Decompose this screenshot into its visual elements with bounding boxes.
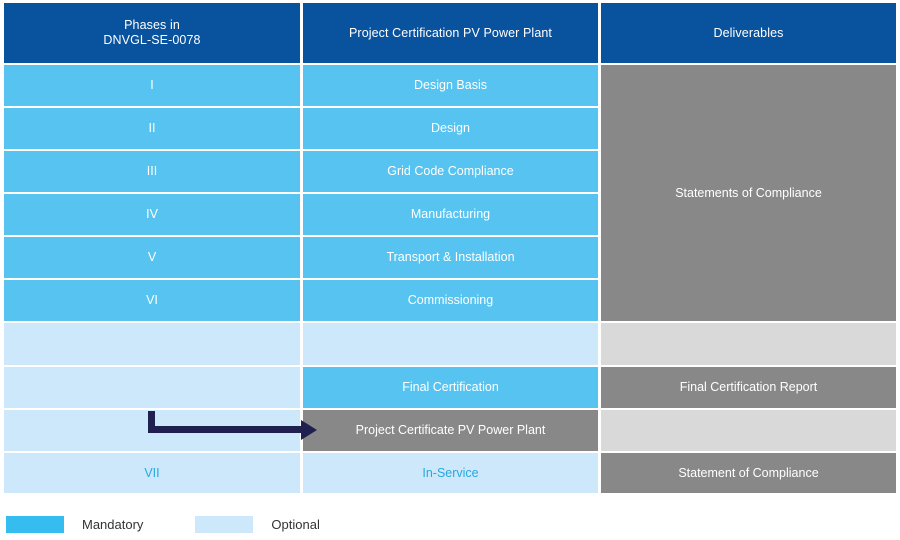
phase-cell-3[interactable]: III: [4, 151, 300, 192]
phase-cell-7[interactable]: VII: [4, 453, 300, 493]
phase-label-4: IV: [146, 207, 158, 222]
activity-label-project-certificate: Project Certificate PV Power Plant: [356, 423, 546, 438]
activity-cell-grid-code-compliance[interactable]: Grid Code Compliance: [303, 151, 598, 192]
header-project-certification-label: Project Certification PV Power Plant: [349, 26, 552, 41]
phase-cell-6[interactable]: VI: [4, 280, 300, 321]
deliverable-spacer-1: [601, 323, 896, 365]
phase-cell-5[interactable]: V: [4, 237, 300, 278]
phase-label-2: II: [149, 121, 156, 136]
header-deliverables-label: Deliverables: [714, 26, 784, 41]
diagram-canvas: Phases in DNVGL-SE-0078 Project Certific…: [0, 0, 900, 540]
activity-cell-design[interactable]: Design: [303, 108, 598, 149]
legend-label-mandatory: Mandatory: [82, 517, 143, 532]
activity-cell-project-certificate[interactable]: Project Certificate PV Power Plant: [303, 410, 598, 451]
activity-cell-transport-installation[interactable]: Transport & Installation: [303, 237, 598, 278]
header-project-certification: Project Certification PV Power Plant: [303, 3, 598, 63]
activity-label-manufacturing: Manufacturing: [411, 207, 490, 222]
activity-cell-blank[interactable]: [303, 323, 598, 365]
activity-cell-final-certification[interactable]: Final Certification: [303, 367, 598, 408]
activity-label-grid-code-compliance: Grid Code Compliance: [387, 164, 513, 179]
activity-label-commissioning: Commissioning: [408, 293, 493, 308]
deliverable-label-final-certification-report: Final Certification Report: [680, 380, 818, 395]
phase-label-5: V: [148, 250, 156, 265]
phase-cell-blank-3[interactable]: [4, 410, 300, 451]
activity-label-design-basis: Design Basis: [414, 78, 487, 93]
phase-label-3: III: [147, 164, 157, 179]
activity-cell-design-basis[interactable]: Design Basis: [303, 65, 598, 106]
header-deliverables: Deliverables: [601, 3, 896, 63]
activity-cell-in-service[interactable]: In-Service: [303, 453, 598, 493]
legend-swatch-optional: [195, 516, 253, 533]
legend: Mandatory Optional: [6, 514, 320, 534]
phase-label-1: I: [150, 78, 153, 93]
phase-cell-blank-1[interactable]: [4, 323, 300, 365]
deliverable-label-statements-of-compliance: Statements of Compliance: [675, 186, 822, 201]
phase-cell-2[interactable]: II: [4, 108, 300, 149]
activity-label-design: Design: [431, 121, 470, 136]
activity-cell-manufacturing[interactable]: Manufacturing: [303, 194, 598, 235]
certification-matrix: Phases in DNVGL-SE-0078 Project Certific…: [4, 3, 896, 493]
legend-swatch-mandatory: [6, 516, 64, 533]
activity-label-in-service: In-Service: [422, 466, 478, 481]
header-phases-label: Phases in DNVGL-SE-0078: [103, 18, 200, 48]
phase-cell-4[interactable]: IV: [4, 194, 300, 235]
activity-label-final-certification: Final Certification: [402, 380, 499, 395]
activity-label-transport-installation: Transport & Installation: [386, 250, 514, 265]
activity-cell-commissioning[interactable]: Commissioning: [303, 280, 598, 321]
deliverable-statements-of-compliance[interactable]: Statements of Compliance: [601, 65, 896, 321]
deliverable-statement-of-compliance[interactable]: Statement of Compliance: [601, 453, 896, 493]
phase-label-7: VII: [144, 466, 159, 481]
deliverable-final-certification-report[interactable]: Final Certification Report: [601, 367, 896, 408]
legend-label-optional: Optional: [271, 517, 319, 532]
phase-cell-1[interactable]: I: [4, 65, 300, 106]
phase-label-6: VI: [146, 293, 158, 308]
header-phases: Phases in DNVGL-SE-0078: [4, 3, 300, 63]
deliverable-label-statement-of-compliance: Statement of Compliance: [678, 466, 818, 481]
deliverable-spacer-2: [601, 410, 896, 451]
phase-cell-blank-2[interactable]: [4, 367, 300, 408]
